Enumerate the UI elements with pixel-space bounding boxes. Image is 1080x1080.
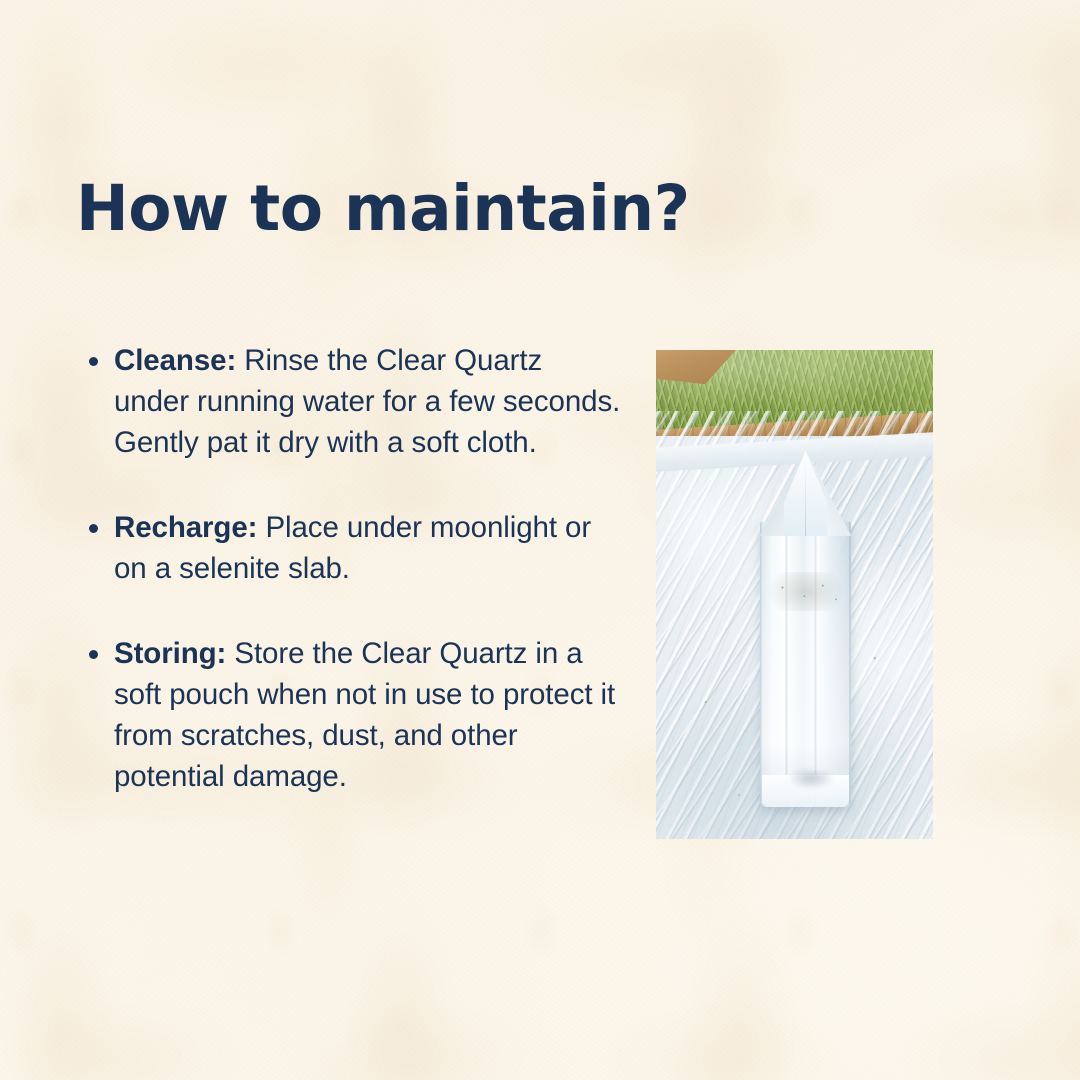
crystal-shadow — [787, 768, 835, 789]
list-item: Cleanse: Rinse the Clear Quartz under ru… — [78, 340, 623, 463]
bullet-dot-icon — [89, 357, 98, 366]
crystal-termination — [760, 450, 851, 536]
slide-canvas: How to maintain? Cleanse: Rinse the Clea… — [0, 0, 1080, 1080]
list-item-label: Recharge: — [114, 511, 257, 544]
crystal-apex-edge — [805, 452, 807, 536]
list-item-label: Cleanse: — [114, 344, 236, 377]
crystal-inclusions — [764, 572, 848, 611]
crystal-body — [760, 522, 851, 808]
crystal-photo-scene — [656, 350, 933, 839]
list-item: Recharge: Place under moonlight or on a … — [78, 507, 623, 589]
maintenance-steps-list: Cleanse: Rinse the Clear Quartz under ru… — [78, 340, 623, 797]
bullet-dot-icon — [89, 524, 98, 533]
crystal-photo — [656, 350, 933, 839]
clear-quartz-point — [760, 450, 851, 807]
list-item: Storing: Store the Clear Quartz in a sof… — [78, 633, 623, 797]
page-title: How to maintain? — [76, 176, 716, 243]
bullet-dot-icon — [89, 650, 98, 659]
list-item-label: Storing: — [114, 637, 226, 670]
